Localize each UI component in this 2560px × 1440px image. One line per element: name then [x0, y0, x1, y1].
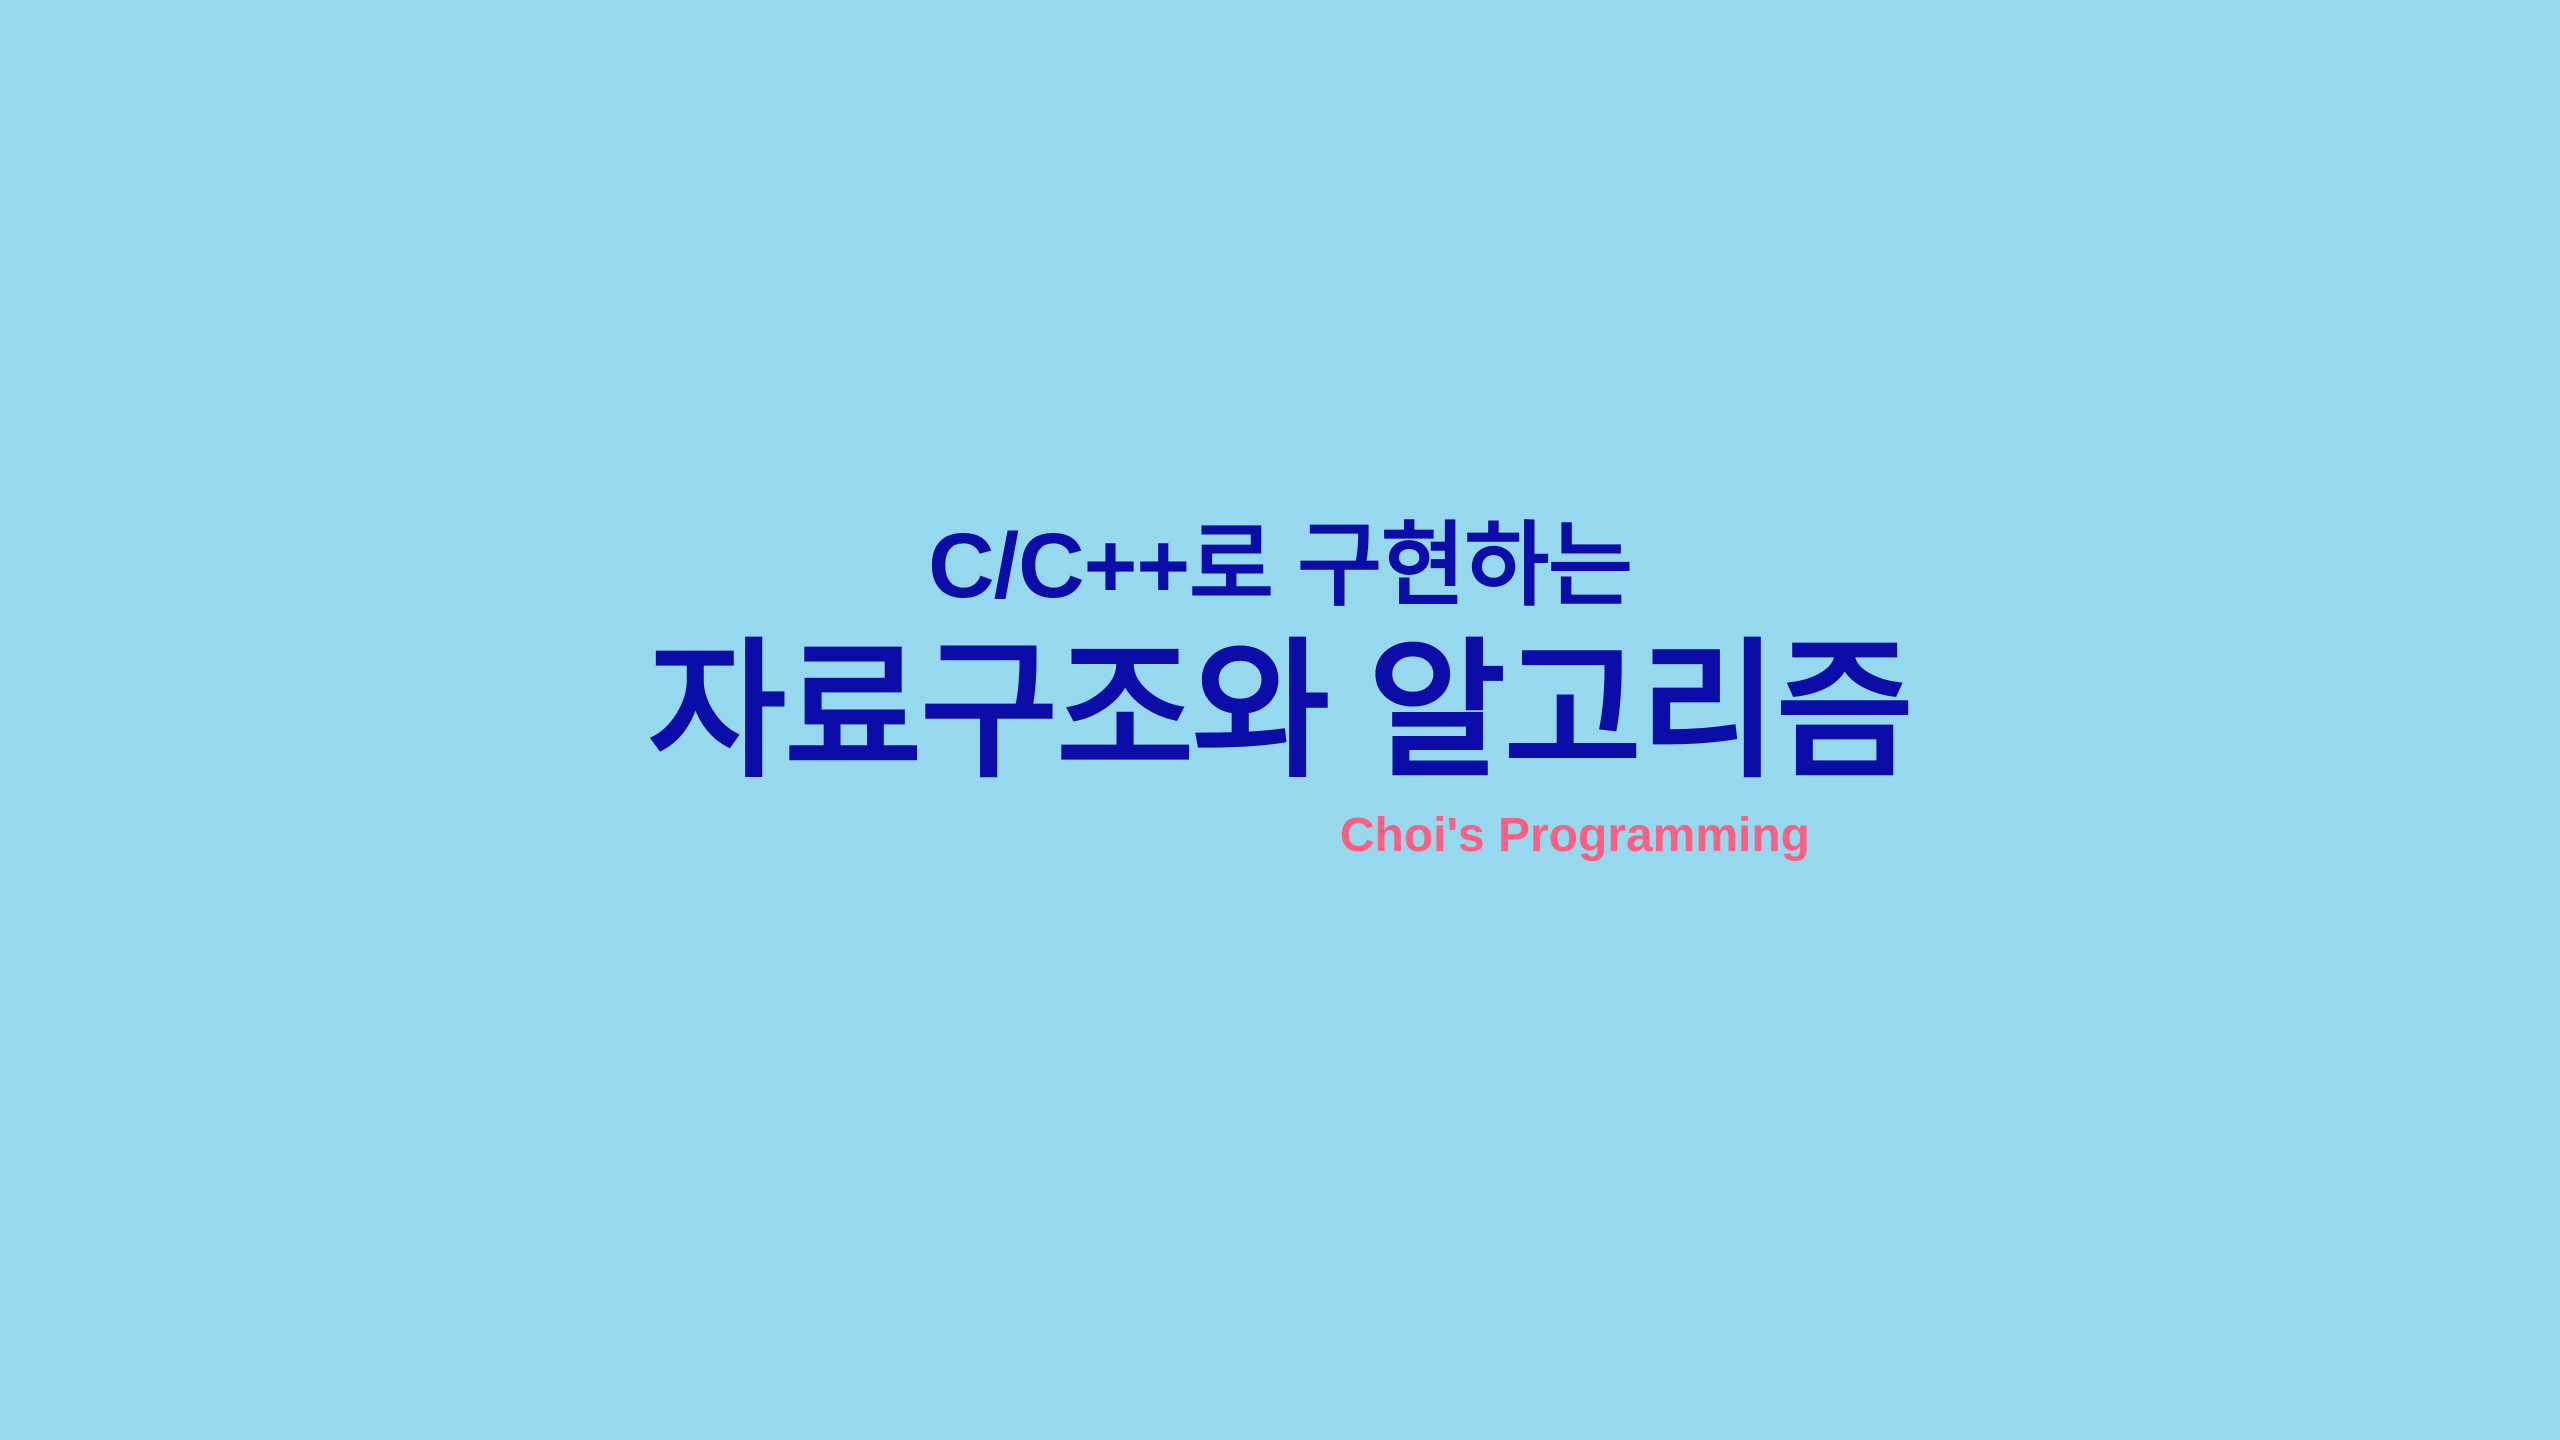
title-block: C/C++로 구현하는 자료구조와 알고리즘 Choi's Programmin… [0, 0, 2560, 1440]
slide-headline: 자료구조와 알고리즘 [648, 636, 1912, 786]
title-slide: C/C++로 구현하는 자료구조와 알고리즘 Choi's Programmin… [0, 0, 2560, 1440]
slide-byline-author: Choi's Programming [1340, 812, 1810, 860]
title-text-column: C/C++로 구현하는 자료구조와 알고리즘 Choi's Programmin… [750, 520, 1810, 860]
slide-eyebrow-line: C/C++로 구현하는 [928, 520, 1632, 612]
